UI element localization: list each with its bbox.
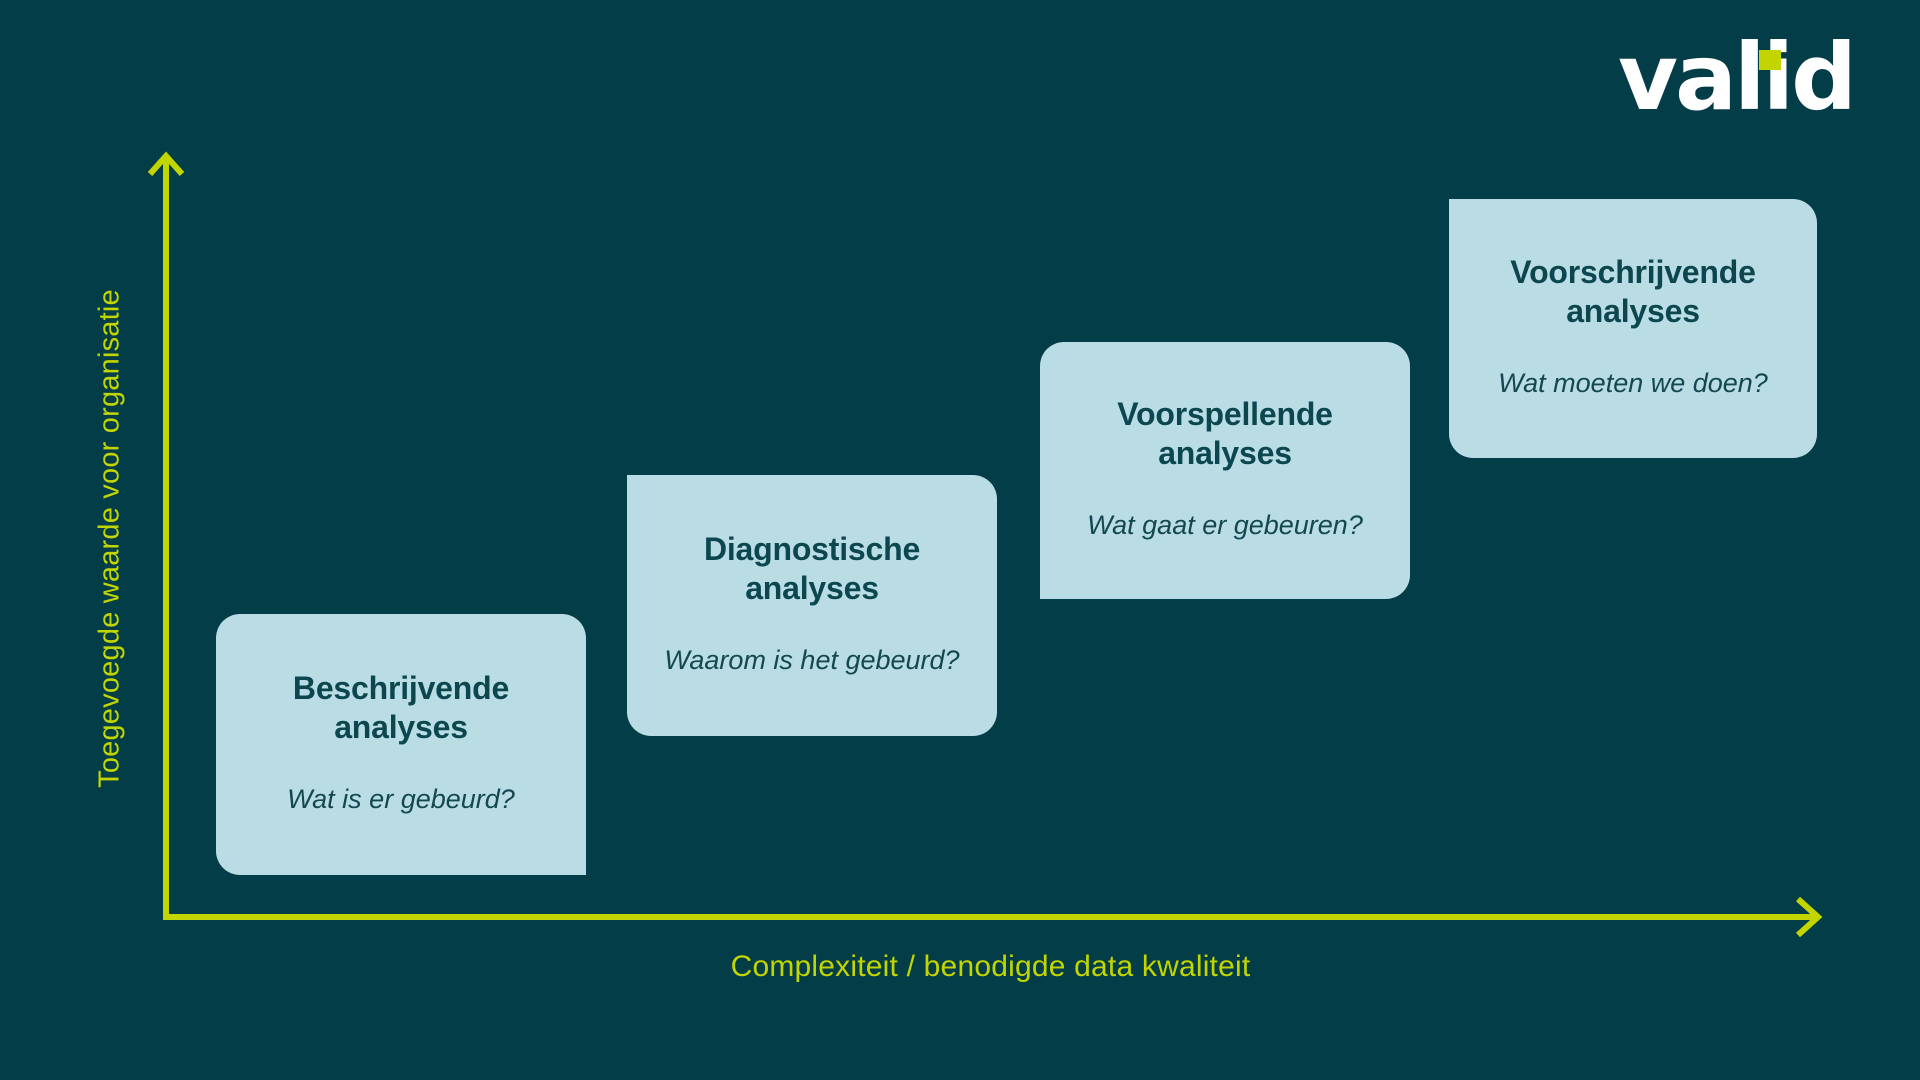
y-axis-line	[163, 160, 169, 920]
logo-square-dot-icon	[1759, 50, 1781, 70]
x-axis-line	[163, 914, 1818, 920]
valid-logo: valid	[1618, 28, 1838, 128]
logo-wordmark: valid	[1618, 28, 1854, 128]
step-card-question: Wat is er gebeurd?	[287, 783, 515, 815]
step-card-title: Voorspellende analyses	[1062, 395, 1388, 473]
analytics-maturity-diagram: valid Toegevoegde waarde voor organisati…	[0, 0, 1920, 1080]
step-card-question: Wat moeten we doen?	[1498, 367, 1768, 399]
step-card-predictive[interactable]: Voorspellende analyses Wat gaat er gebeu…	[1040, 342, 1410, 599]
arrow-up-icon	[146, 148, 186, 192]
step-card-title: Beschrijvende analyses	[238, 669, 564, 747]
step-card-question: Wat gaat er gebeuren?	[1087, 509, 1363, 541]
step-card-descriptive[interactable]: Beschrijvende analyses Wat is er gebeurd…	[216, 614, 586, 875]
step-card-prescriptive[interactable]: Voorschrijvende analyses Wat moeten we d…	[1449, 199, 1817, 458]
arrow-right-icon	[1786, 893, 1832, 941]
step-card-title: Diagnostische analyses	[649, 530, 975, 608]
y-axis-label: Toegevoegde waarde voor organisatie	[94, 159, 127, 919]
x-axis-label: Complexiteit / benodigde data kwaliteit	[163, 950, 1818, 984]
step-card-question: Waarom is het gebeurd?	[664, 644, 959, 676]
step-card-diagnostic[interactable]: Diagnostische analyses Waarom is het geb…	[627, 475, 997, 736]
step-card-title: Voorschrijvende analyses	[1471, 253, 1795, 331]
